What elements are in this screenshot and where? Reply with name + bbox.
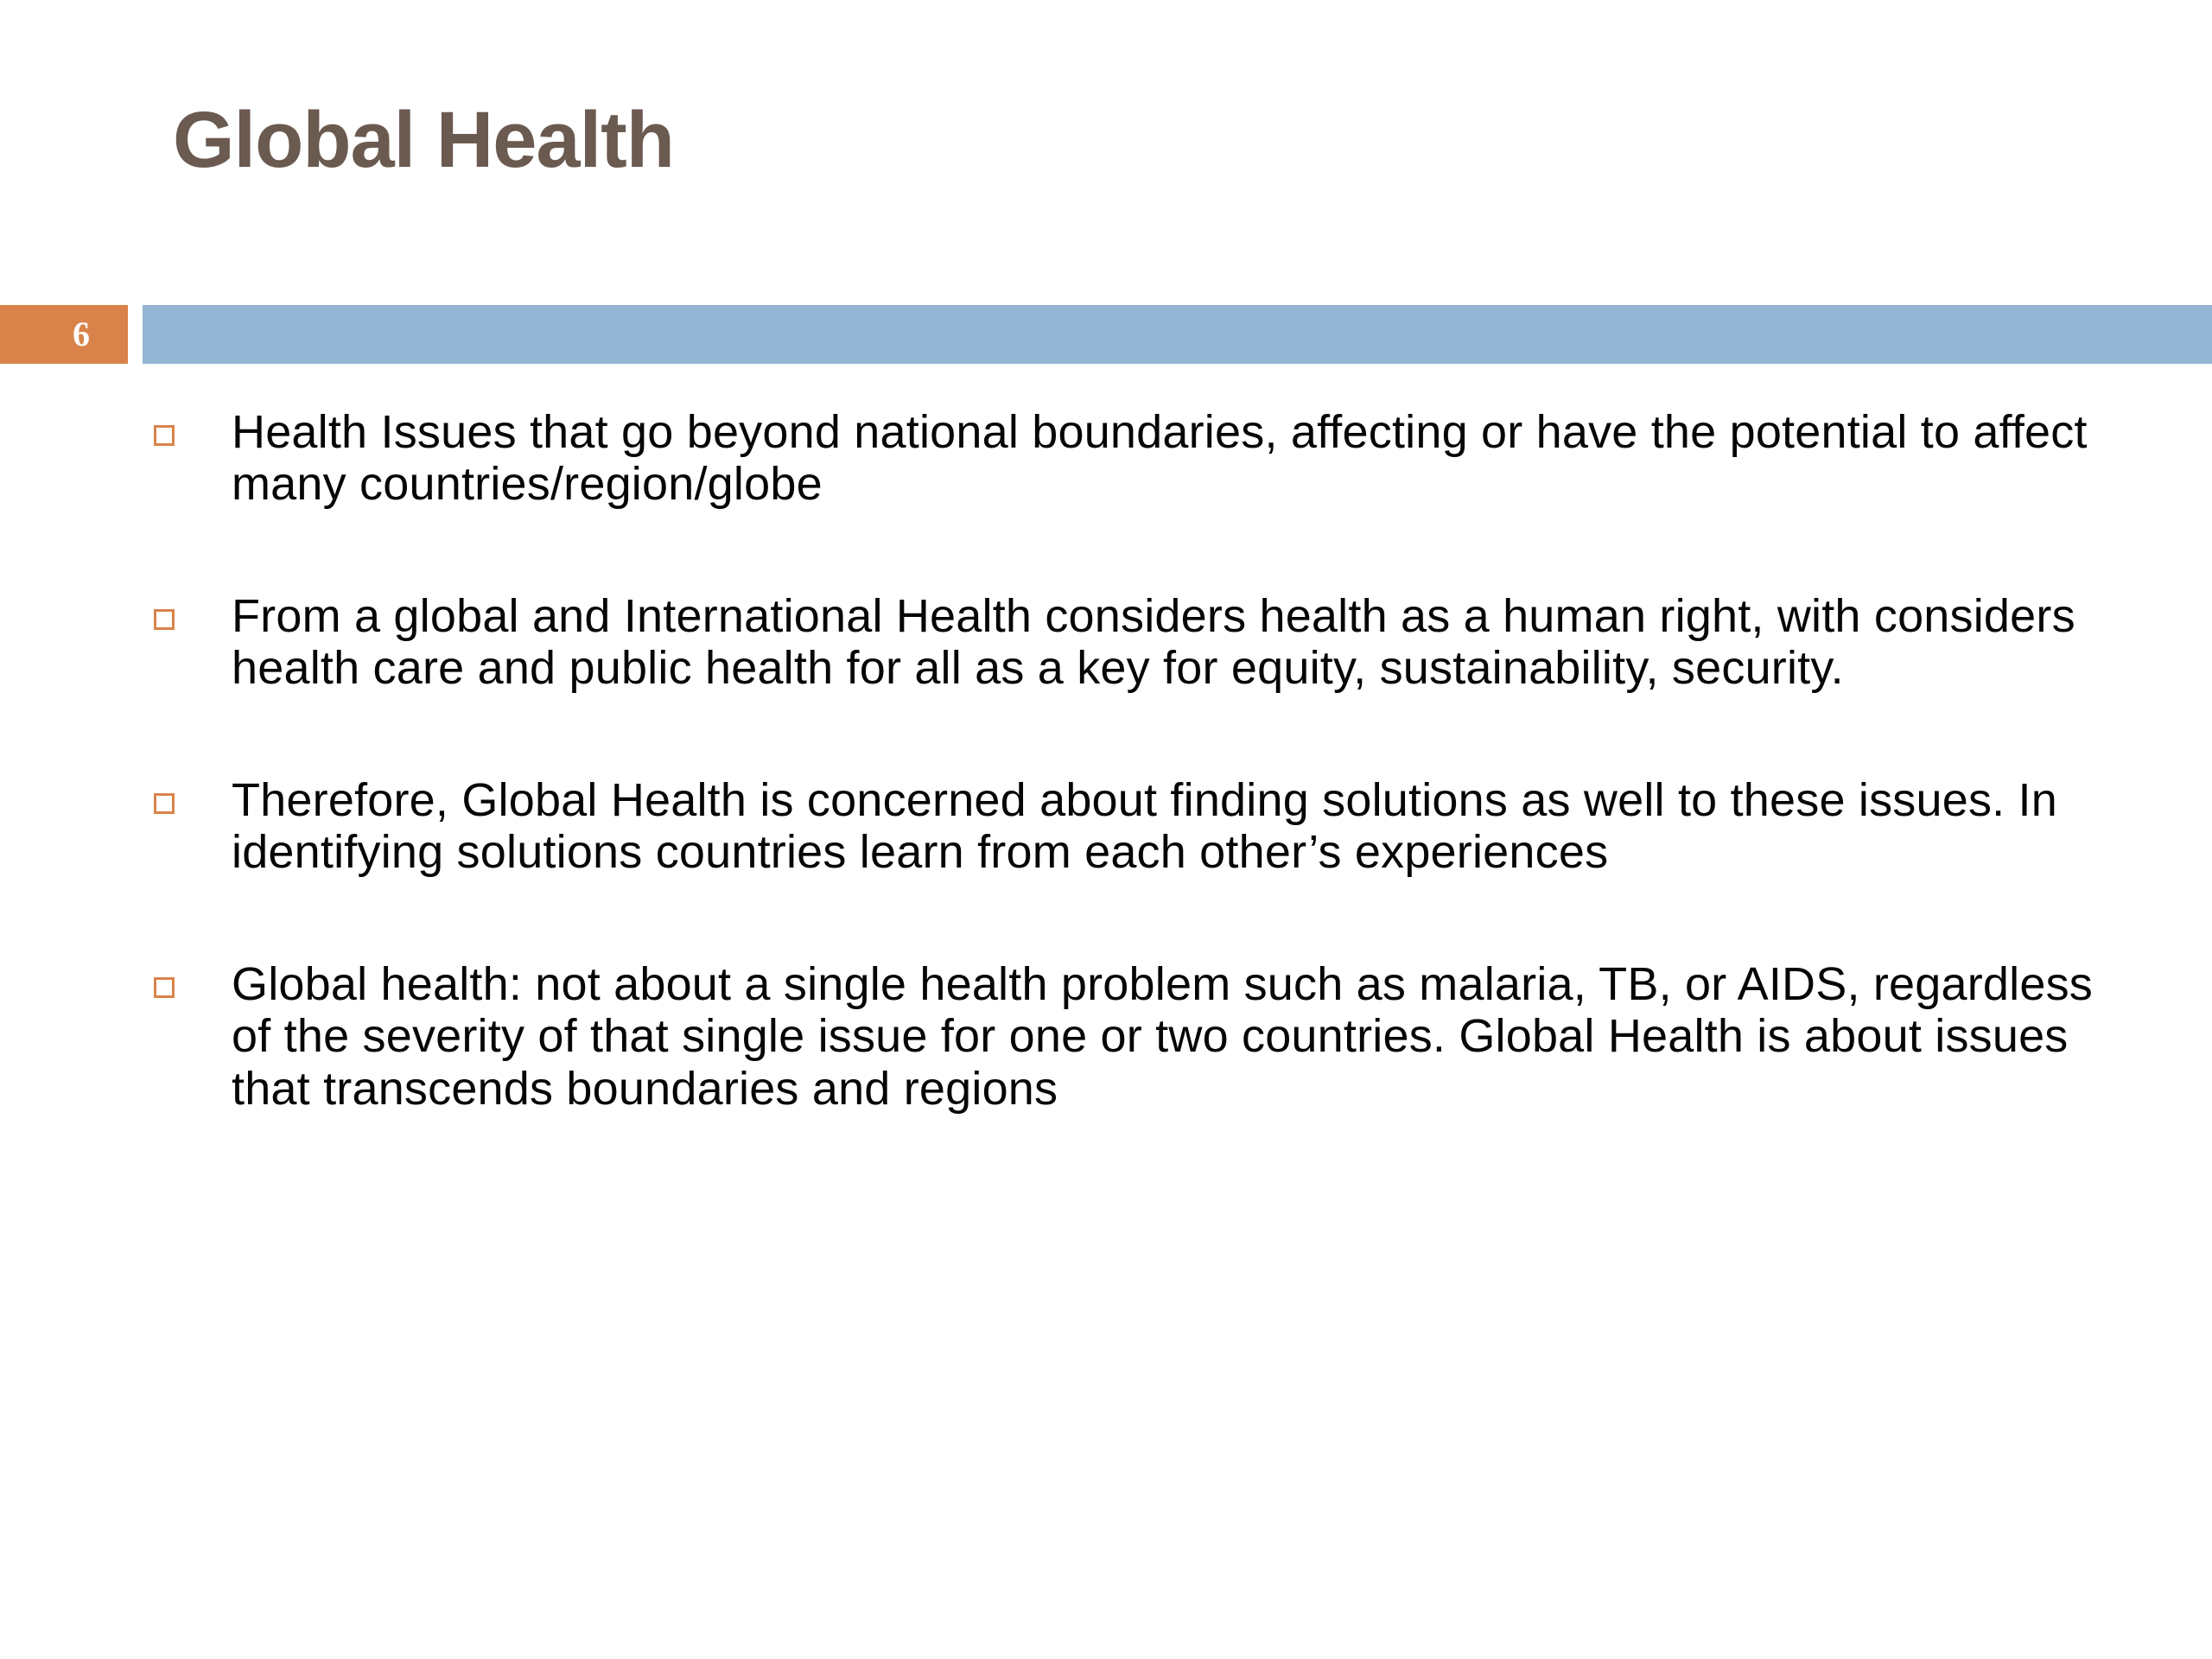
bullet-list: Health Issues that go beyond national bo…: [0, 406, 2212, 1194]
divider-band: 6: [0, 305, 2212, 364]
hollow-square-bullet-icon: [154, 793, 175, 814]
slide-number-chip: 6: [0, 305, 128, 364]
hollow-square-bullet-icon: [154, 609, 175, 630]
slide: Global Health 6 Health Issues that go be…: [0, 0, 2212, 1659]
divider-rule: [143, 305, 2212, 364]
page-title: Global Health: [173, 97, 674, 184]
hollow-square-bullet-icon: [154, 425, 175, 446]
list-item: From a global and International Health c…: [0, 590, 2212, 695]
slide-number-label: 6: [0, 305, 128, 364]
list-item-text: Global health: not about a single health…: [232, 958, 2108, 1115]
list-item-text: Therefore, Global Health is concerned ab…: [232, 774, 2108, 879]
hollow-square-bullet-icon: [154, 977, 175, 998]
list-item-text: From a global and International Health c…: [232, 590, 2108, 695]
list-item: Health Issues that go beyond national bo…: [0, 406, 2212, 511]
list-item: Therefore, Global Health is concerned ab…: [0, 774, 2212, 879]
list-item: Global health: not about a single health…: [0, 958, 2212, 1115]
list-item-text: Health Issues that go beyond national bo…: [232, 406, 2108, 511]
